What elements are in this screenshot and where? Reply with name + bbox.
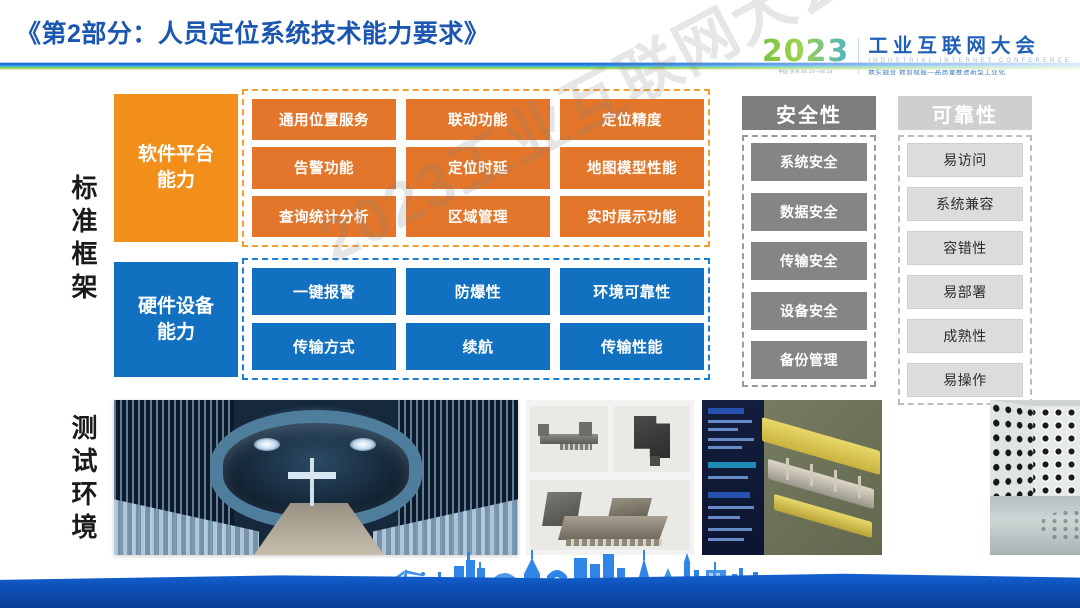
logo-text-block: 工业互联网大会 INDUSTRIAL INTERNET CONFERENCE 数… [859, 36, 1072, 76]
emc-back-wall-ferrite-tiles [1026, 406, 1080, 496]
rail-label-standard-framework: 标准框架 [52, 150, 96, 330]
reliability-item-5[interactable]: 成熟性 [907, 319, 1023, 353]
model-post-3 [834, 470, 837, 492]
hardware-device-group: 硬件设备能力 一键报警 防爆性 环境可靠性 传输方式 续航 传输性能 [114, 258, 710, 380]
reliability-column-header: 可靠性 [898, 96, 1032, 130]
security-item-2[interactable]: 数据安全 [751, 193, 867, 231]
reliability-column-body: 易访问 系统兼容 容错性 易部署 成熟性 易操作 [898, 135, 1032, 405]
software-chip-5[interactable]: 定位时延 [406, 147, 550, 188]
software-platform-label-text: 软件平台能力 [138, 142, 214, 193]
hud-line-5 [708, 476, 748, 479]
hardware-device-label-text: 硬件设备能力 [138, 294, 214, 345]
model-post-2 [810, 464, 813, 486]
part-photo-top-right [614, 406, 690, 472]
software-chip-1[interactable]: 通用位置服务 [252, 99, 396, 140]
software-chip-6[interactable]: 地图模型性能 [560, 147, 704, 188]
hud-bar-1 [708, 408, 744, 414]
chamber-antenna-head [288, 472, 336, 479]
reliability-item-4[interactable]: 易部署 [907, 275, 1023, 309]
hud-line-7 [708, 516, 740, 519]
hud-bar-2 [708, 462, 756, 468]
software-chip-2[interactable]: 联动功能 [406, 99, 550, 140]
hardware-chip-1[interactable]: 一键报警 [252, 268, 396, 315]
security-item-3[interactable]: 传输安全 [751, 242, 867, 280]
hud-line-1 [708, 420, 752, 423]
rail-label-test-environment: 测试环境 [52, 406, 96, 554]
security-item-5[interactable]: 备份管理 [751, 341, 867, 379]
hud-line-8 [708, 528, 752, 531]
security-item-1[interactable]: 系统安全 [751, 143, 867, 181]
hud-line-2 [708, 428, 738, 431]
model-post-1 [786, 458, 789, 480]
chamber-antenna-mast [310, 458, 314, 506]
software-platform-group: 软件平台能力 通用位置服务 联动功能 定位精度 告警功能 定位时延 地图模型性能… [114, 89, 710, 247]
software-chip-3[interactable]: 定位精度 [560, 99, 704, 140]
part-photo-top-left [530, 406, 608, 472]
software-platform-label: 软件平台能力 [114, 94, 238, 242]
hardware-chip-6[interactable]: 传输性能 [560, 323, 704, 370]
software-capability-grid: 通用位置服务 联动功能 定位精度 告警功能 定位时延 地图模型性能 查询统计分析… [252, 99, 704, 237]
hardware-device-label: 硬件设备能力 [114, 262, 238, 377]
metal-base-plate [558, 516, 668, 540]
hud-line-9 [708, 538, 744, 541]
test-environment-photo-strip [114, 398, 1080, 560]
metal-block-right [579, 422, 592, 436]
hardware-chip-5[interactable]: 续航 [406, 323, 550, 370]
security-column: 安全性 系统安全 数据安全 传输安全 设备安全 备份管理 [742, 96, 876, 387]
hardware-chip-4[interactable]: 传输方式 [252, 323, 396, 370]
hud-panel [702, 400, 764, 555]
hardware-chip-3[interactable]: 环境可靠性 [560, 268, 704, 315]
security-column-header: 安全性 [742, 96, 876, 130]
chamber-lamp-right [350, 438, 376, 451]
metal-base-teeth [566, 539, 662, 546]
metal-bracket-shape [634, 416, 670, 458]
reliability-column: 可靠性 易访问 系统兼容 容错性 易部署 成熟性 易操作 [898, 96, 1032, 405]
part-photo-bottom [530, 480, 690, 550]
metal-wedge-right [608, 498, 652, 518]
photo-metal-test-parts [526, 400, 694, 555]
slide-header: 《第2部分：人员定位系统技术能力要求》 2023 中国 贵州 08.14—08.… [0, 0, 1080, 80]
metal-comb-strip [560, 444, 592, 450]
metal-block-left [538, 424, 549, 436]
model-post-4 [858, 476, 861, 498]
security-item-4[interactable]: 设备安全 [751, 292, 867, 330]
page-title: 《第2部分：人员定位系统技术能力要求》 [16, 14, 489, 50]
photo-emc-shielded-room [990, 400, 1080, 555]
reliability-item-2[interactable]: 系统兼容 [907, 187, 1023, 221]
hud-bar-3 [708, 492, 750, 498]
software-chip-9[interactable]: 实时展示功能 [560, 196, 704, 237]
hud-line-4 [708, 446, 742, 449]
slide-footer [0, 552, 1080, 608]
reliability-item-1[interactable]: 易访问 [907, 143, 1023, 177]
hardware-capability-grid: 一键报警 防爆性 环境可靠性 传输方式 续航 传输性能 [252, 268, 704, 370]
chamber-lamp-left [254, 438, 280, 451]
software-chip-4[interactable]: 告警功能 [252, 147, 396, 188]
photo-anechoic-chamber-tunnel [114, 400, 518, 555]
title-divider-fade [0, 62, 1080, 70]
metal-bracket-foot [650, 456, 660, 466]
hud-line-3 [708, 438, 754, 441]
software-chip-7[interactable]: 查询统计分析 [252, 196, 396, 237]
reliability-item-3[interactable]: 容错性 [907, 231, 1023, 265]
software-chip-8[interactable]: 区域管理 [406, 196, 550, 237]
logo-chinese-name: 工业互联网大会 [868, 36, 1072, 56]
security-column-body: 系统安全 数据安全 传输安全 设备安全 备份管理 [742, 135, 876, 387]
conference-logo: 2023 中国 贵州 08.14—08.16 工业互联网大会 INDUSTRIA… [762, 33, 1072, 79]
photo-3d-factory-model-screen [702, 400, 882, 555]
hardware-chip-2[interactable]: 防爆性 [406, 268, 550, 315]
hud-line-6 [708, 506, 754, 509]
reliability-item-6[interactable]: 易操作 [907, 363, 1023, 397]
